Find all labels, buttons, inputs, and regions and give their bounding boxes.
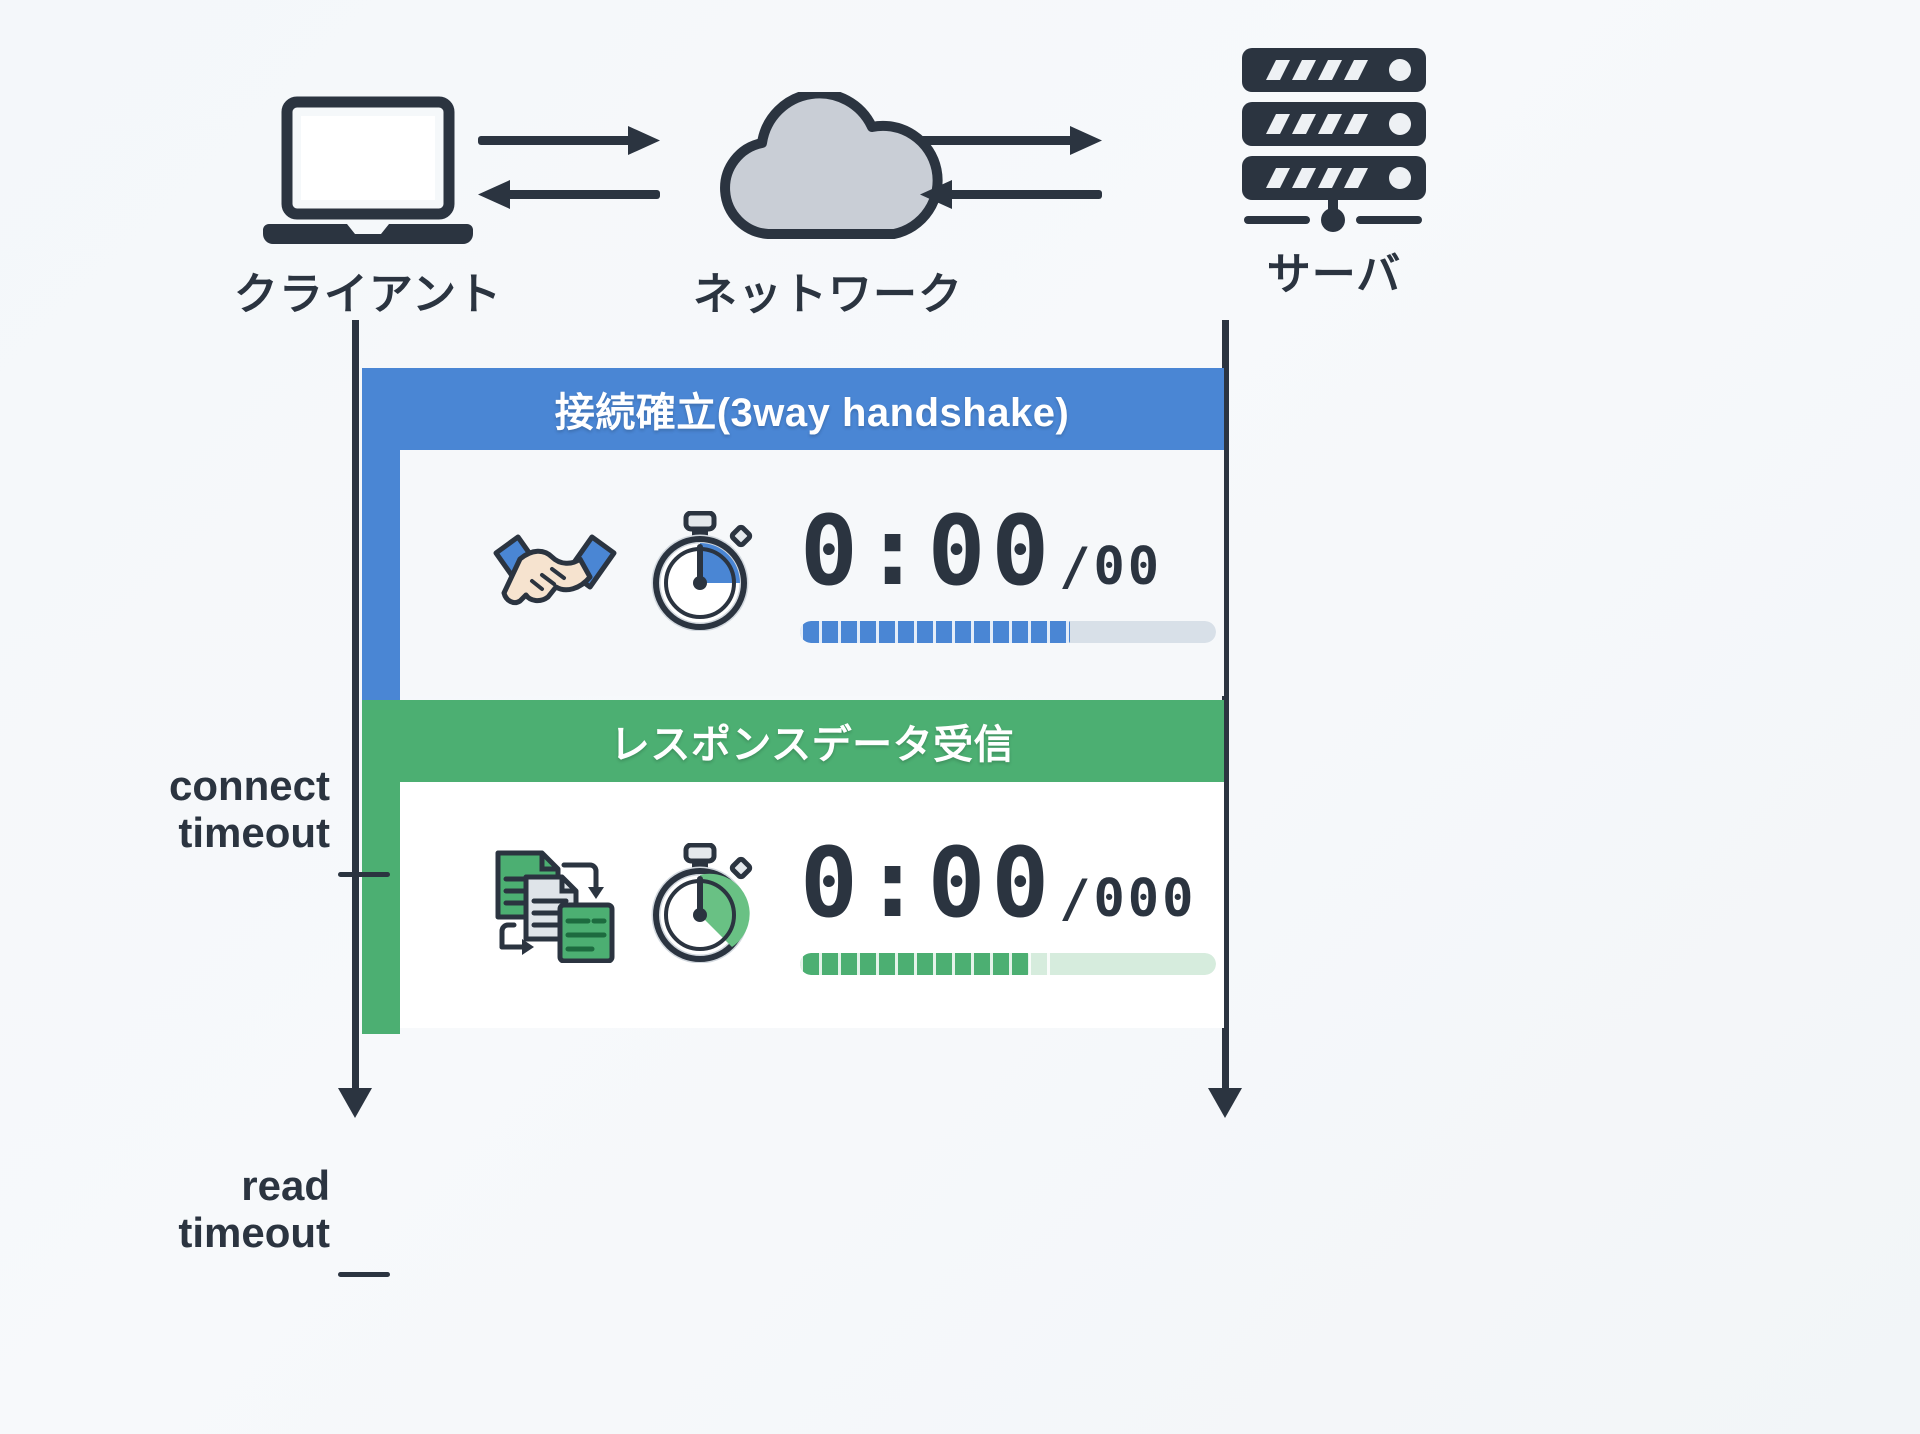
phase-connect: 接続確立(3way handshake) (362, 368, 1224, 700)
connect-timeout-line1: connect (20, 762, 330, 809)
read-timeout-line2: timeout (20, 1209, 330, 1256)
stopwatch-icon (644, 843, 756, 968)
phase-read-bar (362, 700, 400, 1034)
node-server: サーバ (1094, 62, 1574, 302)
diagram-canvas: クライアント ネットワーク (0, 0, 1920, 1434)
connect-timeout-label: connect timeout (20, 762, 330, 856)
phase-read-timer: 0:00 /000 (800, 835, 1216, 931)
server-rack-icon (1094, 62, 1574, 232)
read-timeout-line1: read (20, 1162, 330, 1209)
phase-read-icons (492, 843, 756, 968)
progress-ticks (800, 953, 1066, 975)
phase-connect-timer-main: 0:00 (800, 503, 1055, 599)
read-timeout-label: read timeout (20, 1162, 330, 1256)
read-timeout-dash (338, 1272, 390, 1277)
connect-timeout-line2: timeout (20, 809, 330, 856)
phase-connect-banner: 接続確立(3way handshake) (400, 368, 1224, 450)
arrow-pair-network-server (920, 118, 1102, 233)
laptop-icon (228, 82, 508, 252)
progress-ticks (800, 621, 1085, 643)
phase-read-banner: レスポンスデータ受信 (400, 700, 1224, 782)
phase-read-body: 0:00 /000 (400, 782, 1224, 1028)
phase-connect-meter: 0:00 /00 (800, 503, 1216, 643)
lifeline-server-arrowhead (1208, 1088, 1242, 1118)
phase-connect-icons (492, 511, 756, 636)
documents-transfer-icon (492, 843, 618, 968)
phase-read-meter: 0:00 /000 (800, 835, 1216, 975)
phase-read: レスポンスデータ受信 (362, 700, 1224, 1034)
phase-connect-bar (362, 368, 400, 700)
lifeline-client (352, 320, 359, 1092)
phase-connect-timer: 0:00 /00 (800, 503, 1216, 599)
phase-read-progress (800, 953, 1216, 975)
phase-read-timer-sub: /000 (1059, 873, 1196, 925)
node-network-label: ネットワーク (688, 258, 968, 322)
arrow-pair-client-network (478, 118, 660, 233)
handshake-icon (492, 519, 618, 628)
stopwatch-icon (644, 511, 756, 636)
phase-connect-timer-sub: /00 (1059, 541, 1162, 593)
phase-connect-progress (800, 621, 1216, 643)
node-client-label: クライアント (228, 258, 508, 322)
node-server-label: サーバ (1094, 238, 1574, 302)
lifeline-client-arrowhead (338, 1088, 372, 1118)
phase-connect-body: 0:00 /00 (400, 450, 1224, 696)
connect-timeout-dash (338, 872, 390, 877)
phase-read-timer-main: 0:00 (800, 835, 1055, 931)
node-client: クライアント (228, 82, 508, 322)
